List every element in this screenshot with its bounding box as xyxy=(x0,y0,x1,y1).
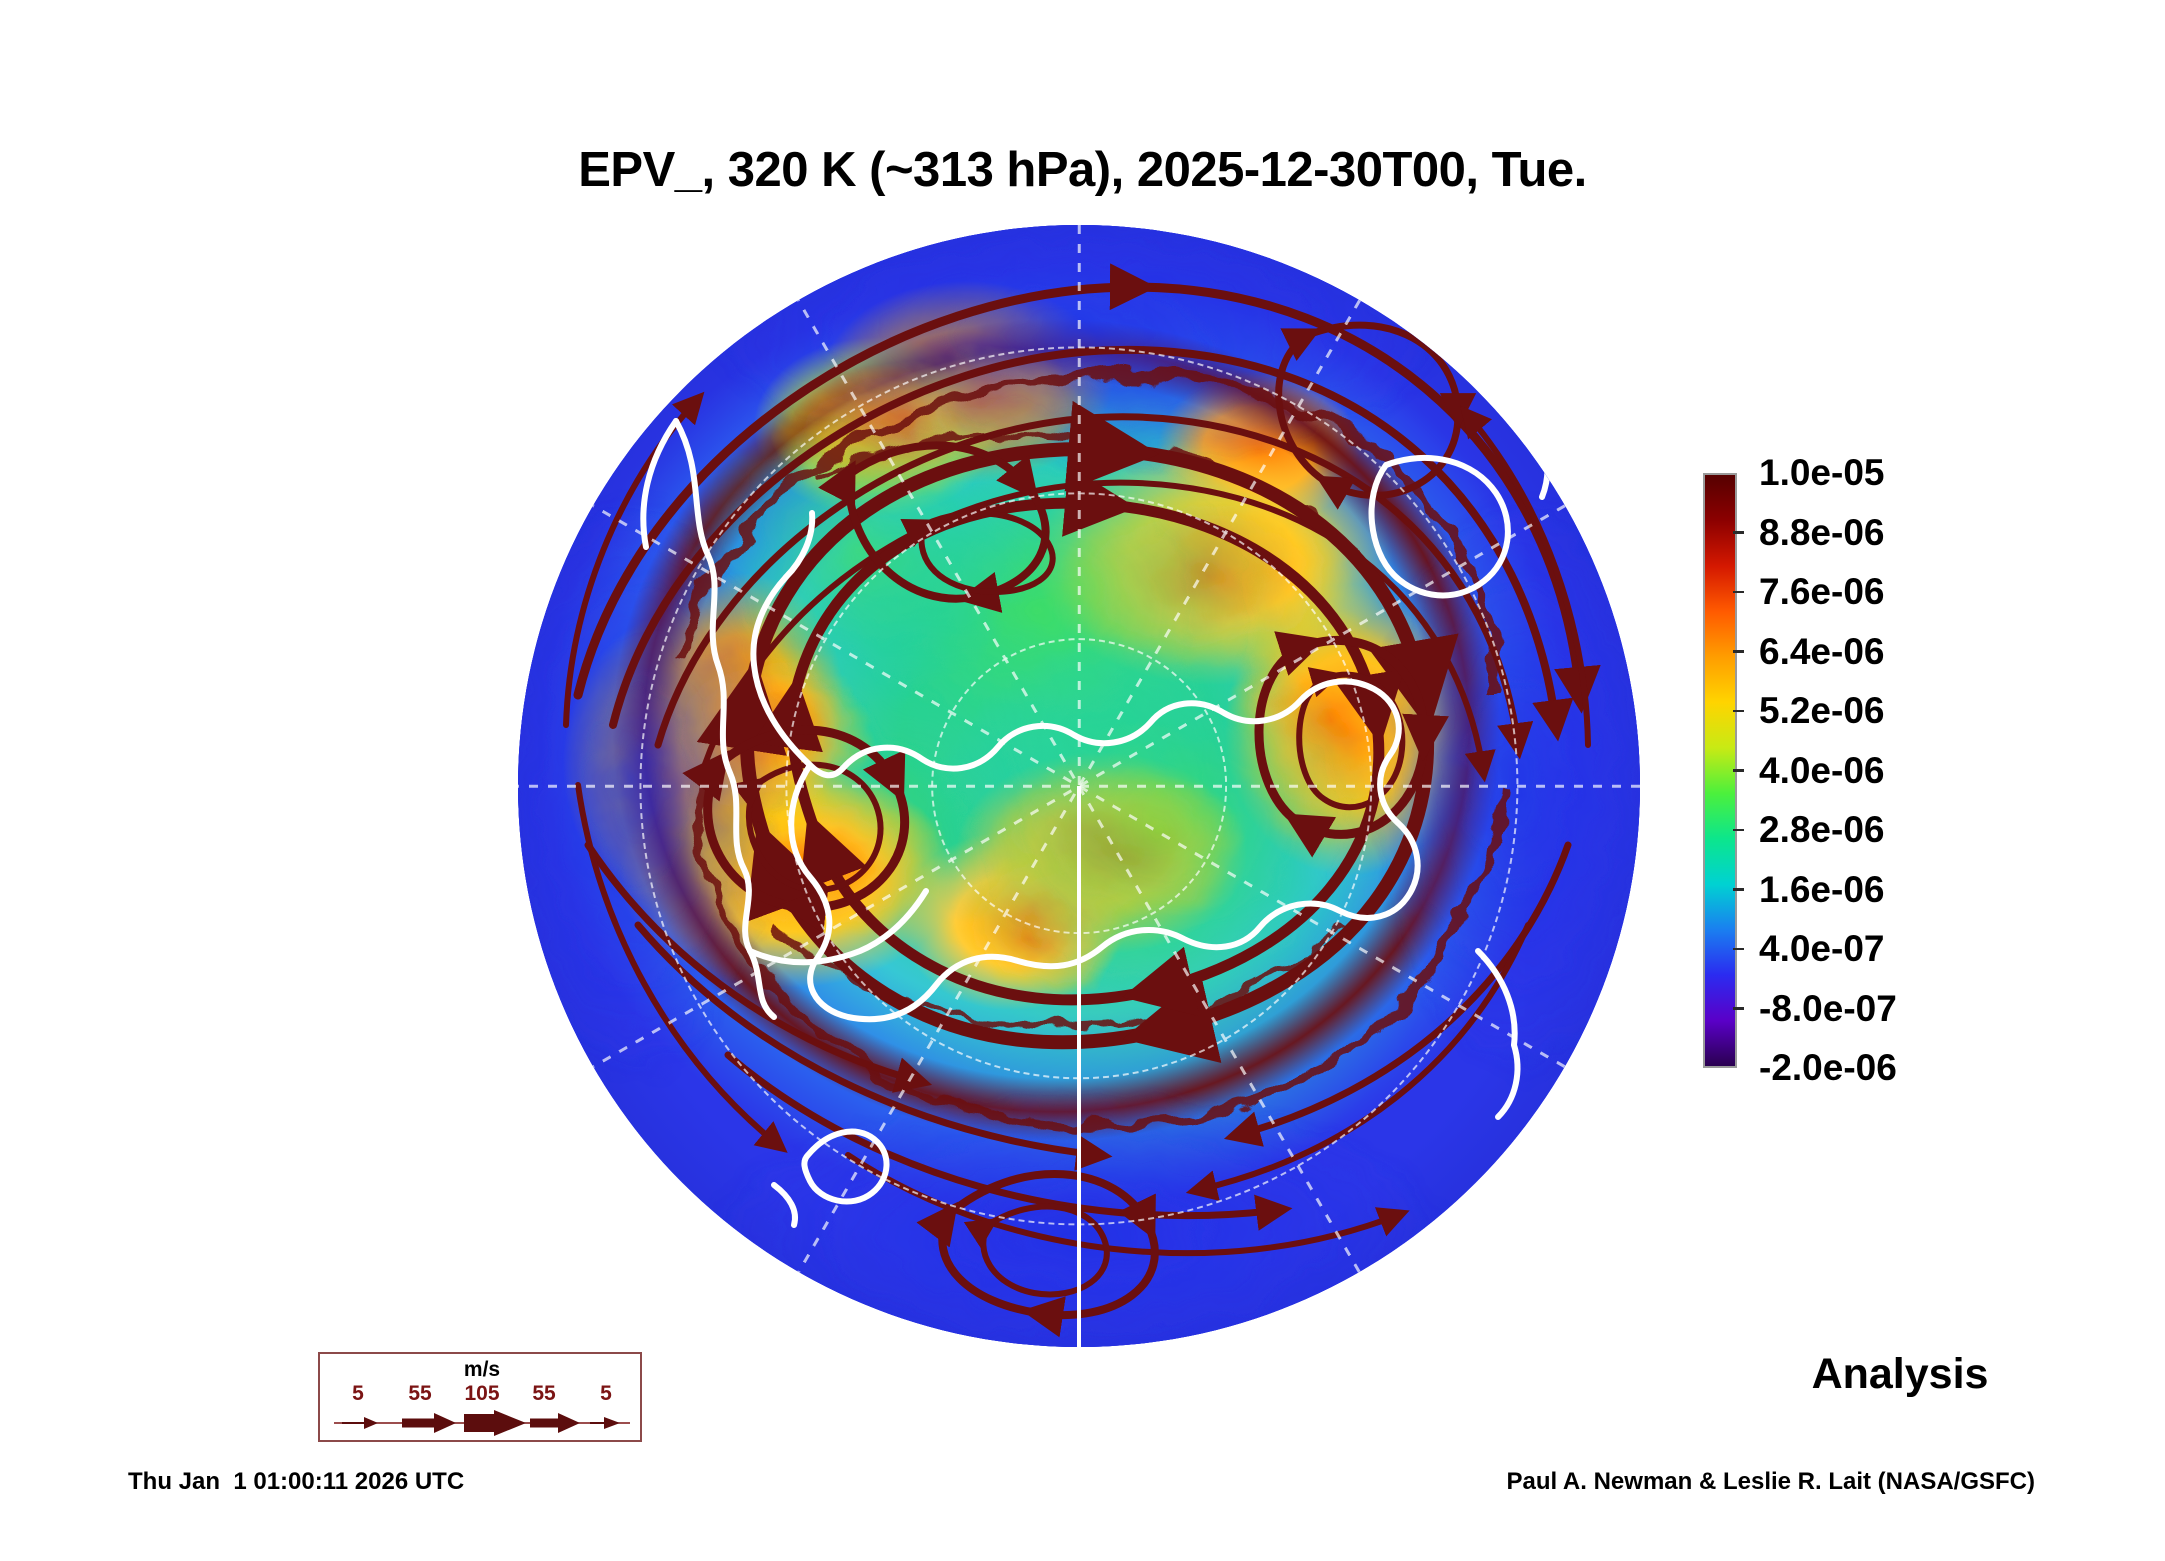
wind-tick-label: 5 xyxy=(576,1382,636,1406)
colorbar-tick xyxy=(1733,948,1744,951)
colorbar-tick-label: 4.0e-07 xyxy=(1759,928,1885,970)
colorbar-tick-label: -8.0e-07 xyxy=(1759,988,1897,1030)
generation-timestamp: Thu Jan 1 01:00:11 2026 UTC xyxy=(128,1468,464,1496)
colorbar-tick xyxy=(1733,650,1744,653)
colorbar-tick-label: 2.8e-06 xyxy=(1759,809,1885,851)
wind-tick-label: 105 xyxy=(452,1382,512,1406)
colorbar-tick-label: 1.0e-05 xyxy=(1759,452,1885,494)
wind-unit-label: m/s xyxy=(320,1358,644,1382)
wind-tick-label: 55 xyxy=(390,1382,450,1406)
colorbar-ticks xyxy=(1733,473,1745,1068)
wind-speed-legend: m/s 5 55 105 55 5 xyxy=(318,1352,642,1442)
colorbar-tick xyxy=(1733,888,1744,891)
colorbar-bar[interactable] xyxy=(1703,473,1737,1068)
wind-legend-tick-labels: 5 55 105 55 5 xyxy=(328,1382,636,1406)
colorbar-tick xyxy=(1733,829,1744,832)
colorbar-gradient xyxy=(1705,475,1735,1066)
colorbar-tick xyxy=(1733,710,1744,713)
colorbar-tick-label: 6.4e-06 xyxy=(1759,631,1885,673)
wind-tick-label: 5 xyxy=(328,1382,388,1406)
attribution: Paul A. Newman & Leslie R. Lait (NASA/GS… xyxy=(1506,1468,2035,1496)
colorbar-tick xyxy=(1733,1007,1744,1010)
colorbar-tick-labels: 1.0e-058.8e-067.6e-066.4e-065.2e-064.0e-… xyxy=(1759,473,2099,1068)
colorbar-tick-label: 8.8e-06 xyxy=(1759,512,1885,554)
colorbar-tick xyxy=(1733,769,1744,772)
colorbar-tick xyxy=(1733,531,1744,534)
colorbar-tick-label: 1.6e-06 xyxy=(1759,869,1885,911)
prime-meridian-line xyxy=(1077,786,1081,1347)
colorbar-tick-label: -2.0e-06 xyxy=(1759,1047,1897,1089)
wind-arrow-scale xyxy=(334,1410,630,1436)
page-title: EPV_, 320 K (~313 hPa), 2025-12-30T00, T… xyxy=(0,142,2165,198)
colorbar-tick-label: 5.2e-06 xyxy=(1759,690,1885,732)
globe-disc[interactable] xyxy=(518,225,1640,1347)
colorbar-tick-label: 4.0e-06 xyxy=(1759,750,1885,792)
analysis-label: Analysis xyxy=(1700,1350,2100,1399)
colorbar-tick-label: 7.6e-06 xyxy=(1759,571,1885,613)
wind-tick-label: 55 xyxy=(514,1382,574,1406)
colorbar-tick xyxy=(1733,591,1744,594)
polar-map-panel[interactable] xyxy=(518,225,1640,1347)
colorbar[interactable]: 1.0e-058.8e-067.6e-066.4e-065.2e-064.0e-… xyxy=(1703,473,2123,1073)
